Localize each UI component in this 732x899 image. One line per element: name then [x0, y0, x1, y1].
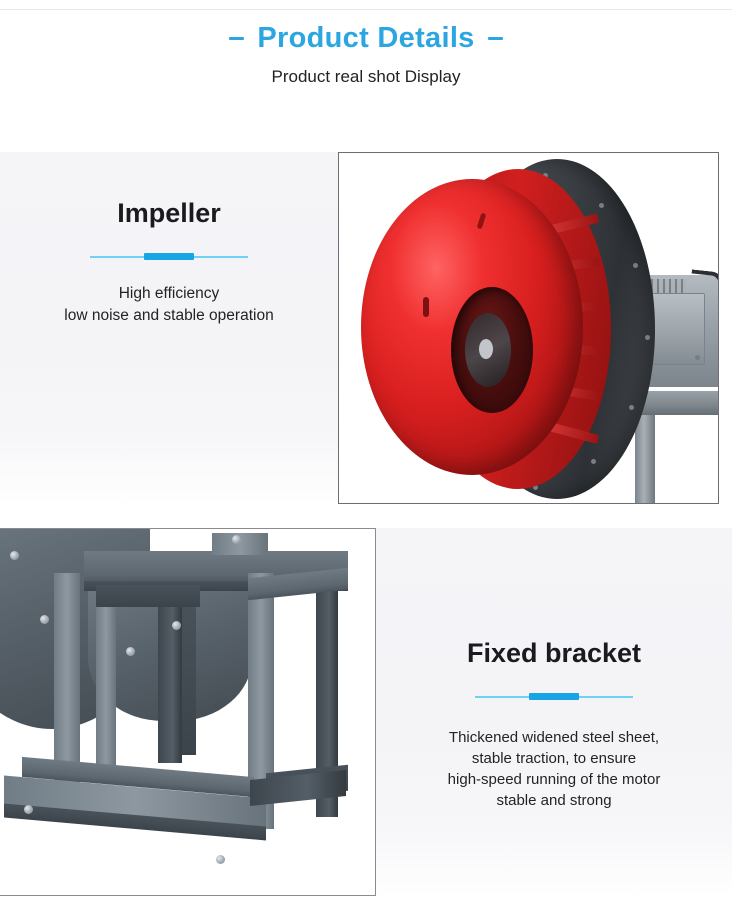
impeller-photo [338, 152, 719, 504]
base-bolt-left [24, 805, 33, 814]
page-subtitle: Product real shot Display [0, 66, 732, 88]
top-divider-rule [0, 9, 732, 10]
fixed-bracket-photo [0, 528, 376, 896]
bracket-left-post [54, 573, 80, 783]
post-bolt-b [40, 615, 49, 624]
page-title-text: Product Details [257, 22, 474, 54]
divider-bar [144, 253, 194, 260]
impeller-illustration [339, 153, 718, 503]
shroud-notch [423, 297, 429, 317]
fixed-bracket-title: Fixed bracket [467, 636, 641, 670]
divider-bar [529, 693, 579, 700]
post-bolt-d [172, 621, 181, 630]
fixed-bracket-description: Thickened widened steel sheet, stable tr… [448, 727, 661, 811]
bracket-illustration [0, 529, 375, 895]
impeller-hub [479, 339, 493, 359]
fixed-bracket-divider [475, 692, 633, 701]
impeller-title: Impeller [117, 196, 221, 230]
post-bolt-a [10, 551, 19, 560]
impeller-front-shroud [361, 179, 583, 475]
page-header: Product Details Product real shot Displa… [0, 20, 732, 88]
top-bolt [232, 535, 241, 544]
page-title: Product Details [0, 20, 732, 56]
base-bolt-right [216, 855, 225, 864]
shroud-slot [477, 213, 487, 230]
title-dash-right-icon [488, 37, 503, 40]
motor-cable [690, 269, 719, 288]
impeller-description: High efficiency low noise and stable ope… [64, 283, 273, 327]
bracket-inner-post [96, 589, 116, 775]
post-bolt-c [126, 647, 135, 656]
impeller-divider [90, 252, 248, 261]
section-impeller: Impeller High efficiency low noise and s… [0, 152, 732, 504]
bracket-gusset [96, 585, 200, 607]
section-fixed-bracket: Fixed bracket Thickened widened steel sh… [0, 528, 732, 896]
fixed-bracket-text-panel: Fixed bracket Thickened widened steel sh… [376, 528, 732, 896]
title-dash-left-icon [229, 37, 244, 40]
impeller-text-panel: Impeller High efficiency low noise and s… [0, 152, 338, 504]
bracket-centre-post-web [182, 603, 196, 755]
